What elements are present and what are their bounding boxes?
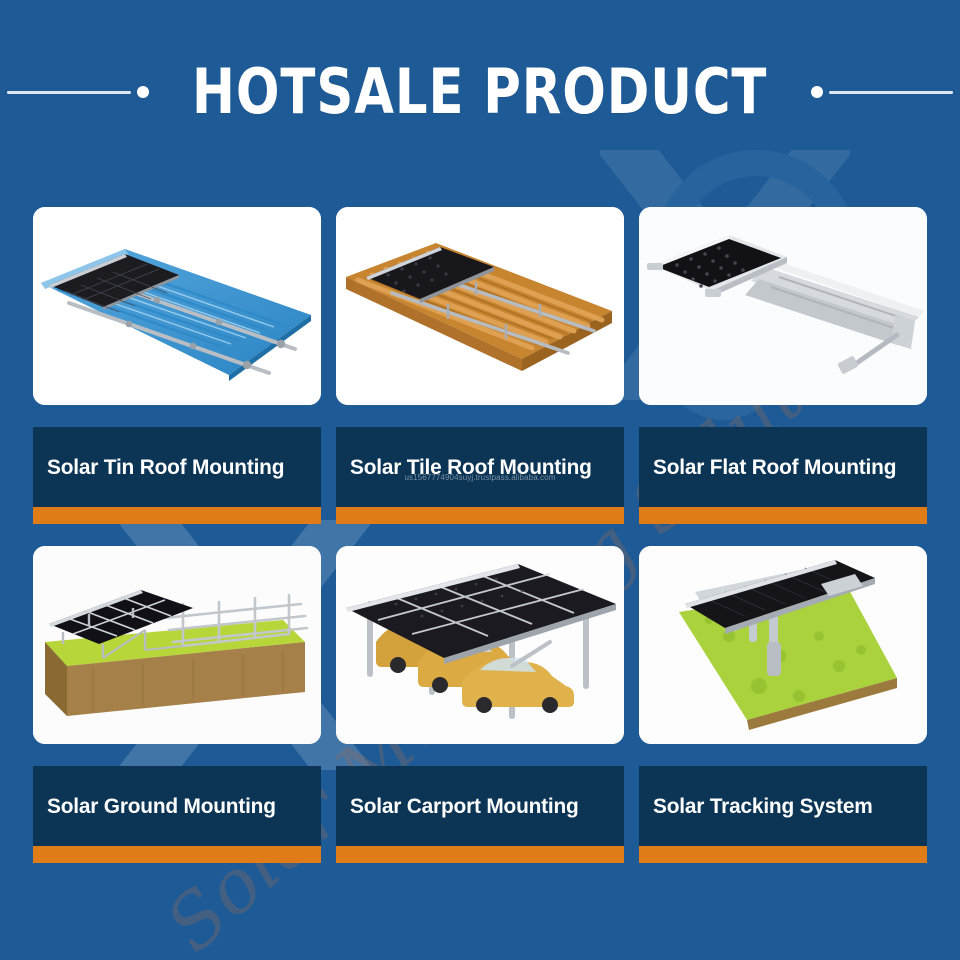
product-card-tracking-system[interactable]: Solar Tracking System xyxy=(639,546,927,863)
product-accent-bar xyxy=(639,507,927,524)
solar-carport-mounting-illustration xyxy=(336,546,624,744)
page-header: HOTSALE PRODUCT xyxy=(0,52,960,132)
product-label-text: Solar Flat Roof Mounting xyxy=(653,455,896,480)
product-image-flat-roof xyxy=(639,207,927,405)
product-label-ground-mounting: Solar Ground Mounting xyxy=(33,766,321,846)
alibaba-watermark-text: us1567774904suyj.trustpass.alibaba.com xyxy=(336,473,624,482)
product-card-ground-mounting[interactable]: Solar Ground Mounting xyxy=(33,546,321,863)
product-label-text: Solar Tracking System xyxy=(653,794,873,819)
product-image-carport xyxy=(336,546,624,744)
product-card-tin-roof[interactable]: Solar Tin Roof Mounting xyxy=(33,207,321,524)
product-accent-bar xyxy=(33,846,321,863)
header-left-decoration xyxy=(7,86,149,98)
product-image-tracking-system xyxy=(639,546,927,744)
product-accent-bar xyxy=(639,846,927,863)
decoration-line xyxy=(7,91,131,94)
product-card-tile-roof[interactable]: Solar Tile Roof Mounting us1567774904suy… xyxy=(336,207,624,524)
solar-flat-roof-mounting-illustration xyxy=(639,207,927,405)
product-label-text: Solar Tin Roof Mounting xyxy=(47,455,284,480)
page-title: HOTSALE PRODUCT xyxy=(192,61,767,123)
product-image-tin-roof xyxy=(33,207,321,405)
solar-tracking-system-illustration xyxy=(639,546,927,744)
product-card-flat-roof[interactable]: Solar Flat Roof Mounting xyxy=(639,207,927,524)
solar-tile-roof-mounting-illustration xyxy=(336,207,624,405)
product-label-text: Solar Ground Mounting xyxy=(47,794,276,819)
product-label-tile-roof: Solar Tile Roof Mounting us1567774904suy… xyxy=(336,427,624,507)
product-accent-bar xyxy=(336,846,624,863)
product-image-ground-mounting xyxy=(33,546,321,744)
product-label-tracking-system: Solar Tracking System xyxy=(639,766,927,846)
decoration-dot xyxy=(811,86,823,98)
solar-ground-mounting-illustration xyxy=(33,546,321,744)
decoration-line xyxy=(829,91,953,94)
product-label-text: Solar Carport Mounting xyxy=(350,794,579,819)
solar-tin-roof-mounting-illustration xyxy=(33,207,321,405)
product-accent-bar xyxy=(336,507,624,524)
product-image-tile-roof xyxy=(336,207,624,405)
product-card-carport[interactable]: Solar Carport Mounting xyxy=(336,546,624,863)
product-label-flat-roof: Solar Flat Roof Mounting xyxy=(639,427,927,507)
product-accent-bar xyxy=(33,507,321,524)
product-label-carport: Solar Carport Mounting xyxy=(336,766,624,846)
decoration-dot xyxy=(137,86,149,98)
header-right-decoration xyxy=(811,86,953,98)
product-grid: Solar Tin Roof Mounting xyxy=(33,207,927,863)
product-label-tin-roof: Solar Tin Roof Mounting xyxy=(33,427,321,507)
